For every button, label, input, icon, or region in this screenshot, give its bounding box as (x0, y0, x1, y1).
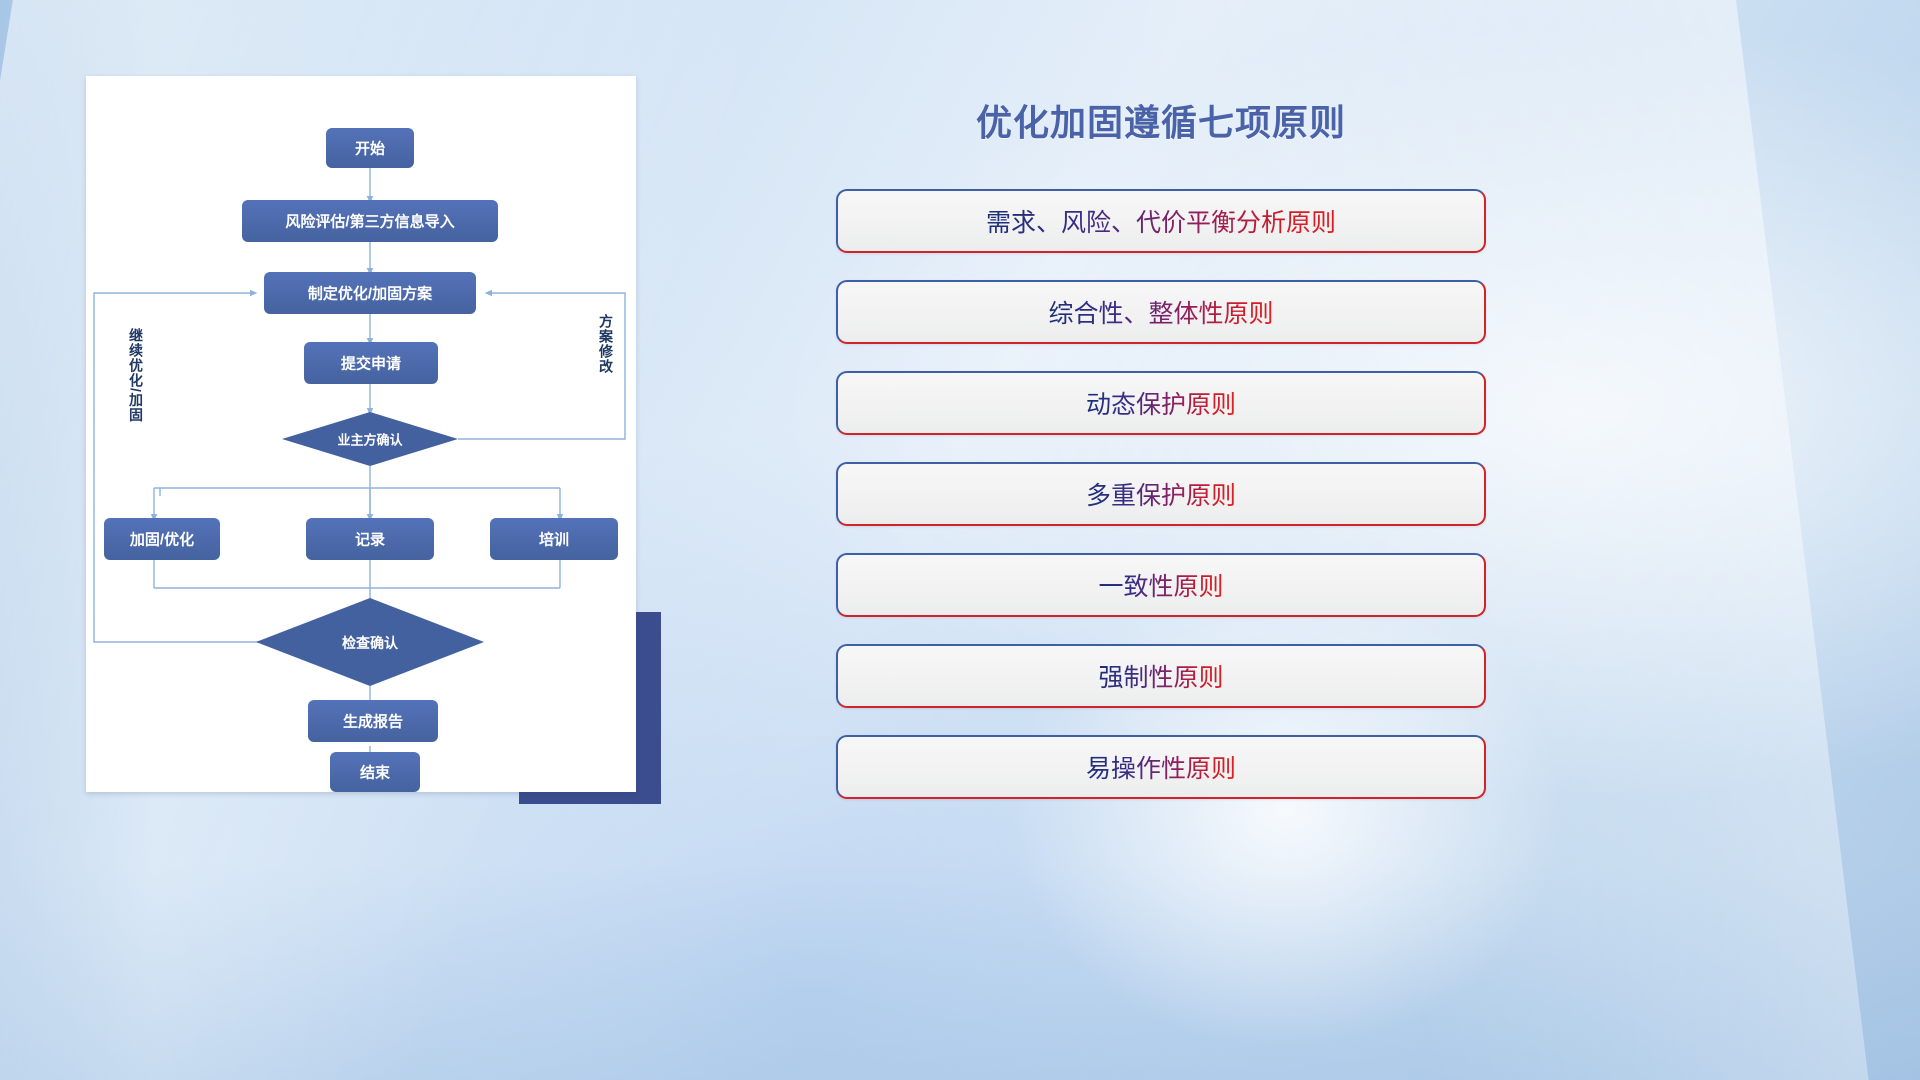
principles-panel: 优化加固遵循七项原则 需求、风险、代价平衡分析原则 综合性、整体性原则 动态保护… (836, 80, 1486, 840)
flow-node-train[interactable]: 培训 (490, 518, 618, 560)
svg-text:加固/优化: 加固/优化 (129, 531, 194, 549)
principle-item-1[interactable]: 需求、风险、代价平衡分析原则 (836, 189, 1486, 253)
svg-text:生成报告: 生成报告 (343, 713, 403, 731)
principle-label: 需求、风险、代价平衡分析原则 (986, 203, 1336, 239)
svg-text:风险评估/第三方信息导入: 风险评估/第三方信息导入 (285, 213, 454, 231)
svg-text:提交申请: 提交申请 (341, 355, 401, 373)
svg-text:培训: 培训 (539, 531, 569, 549)
principle-label: 综合性、整体性原则 (1048, 294, 1273, 330)
principle-item-4[interactable]: 多重保护原则 (836, 462, 1486, 526)
principle-item-7[interactable]: 易操作性原则 (836, 735, 1486, 799)
svg-text:制定优化/加固方案: 制定优化/加固方案 (308, 285, 433, 303)
principles-list: 需求、风险、代价平衡分析原则 综合性、整体性原则 动态保护原则 多重保护原则 一… (836, 189, 1486, 826)
flow-node-reinforce[interactable]: 加固/优化 (104, 518, 220, 560)
svg-text:结束: 结束 (360, 764, 391, 782)
principles-title: 优化加固遵循七项原则 (836, 94, 1486, 146)
svg-text:记录: 记录 (355, 532, 385, 549)
flow-node-owner-confirm[interactable]: 业主方确认 (282, 412, 458, 466)
svg-text:开始: 开始 (355, 140, 385, 158)
flow-node-plan[interactable]: 制定优化/加固方案 (264, 272, 476, 314)
principle-label: 动态保护原则 (1086, 385, 1236, 421)
principle-label: 强制性原则 (1098, 658, 1223, 694)
flow-edge-label-left: 继续优化/加固 (128, 327, 144, 423)
principle-item-3[interactable]: 动态保护原则 (836, 371, 1486, 435)
principle-item-5[interactable]: 一致性原则 (836, 553, 1486, 617)
flow-node-start[interactable]: 开始 (326, 128, 414, 168)
flow-node-submit[interactable]: 提交申请 (304, 342, 438, 384)
flow-node-end[interactable]: 结束 (330, 752, 420, 792)
flow-node-report[interactable]: 生成报告 (308, 700, 438, 742)
principle-label: 易操作性原则 (1086, 749, 1236, 785)
flow-node-check[interactable]: 检查确认 (256, 598, 484, 686)
flow-edge-label-right: 方案修改 (598, 313, 614, 374)
principle-item-6[interactable]: 强制性原则 (836, 644, 1486, 708)
flowchart-svg: 继续优化/加固 方案修改 开始 风险评估/第三方信息导入 制定优化/加固方案 提… (86, 76, 636, 792)
svg-text:检查确认: 检查确认 (342, 635, 399, 651)
principle-item-2[interactable]: 综合性、整体性原则 (836, 280, 1486, 344)
svg-text:业主方确认: 业主方确认 (337, 433, 403, 448)
flowchart-card: 继续优化/加固 方案修改 开始 风险评估/第三方信息导入 制定优化/加固方案 提… (86, 76, 636, 792)
principle-label: 多重保护原则 (1086, 476, 1236, 512)
flow-node-record[interactable]: 记录 (306, 518, 434, 560)
principle-label: 一致性原则 (1098, 567, 1223, 603)
flow-node-assess[interactable]: 风险评估/第三方信息导入 (242, 200, 498, 242)
